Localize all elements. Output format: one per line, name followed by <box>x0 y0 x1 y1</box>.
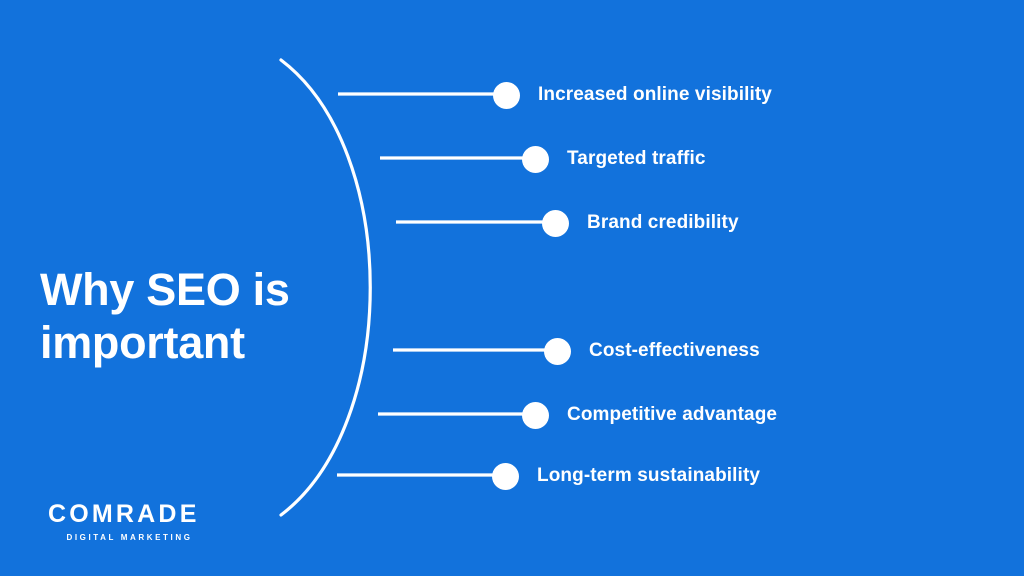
bullet-dot-icon <box>492 463 519 490</box>
list-item-label: Increased online visibility <box>538 84 772 106</box>
list-item: Targeted traffic <box>522 144 706 174</box>
list-item-label: Long-term sustainability <box>537 465 760 487</box>
list-item: Cost-effectiveness <box>544 336 760 366</box>
list-item-label: Competitive advantage <box>567 404 777 426</box>
list-item: Long-term sustainability <box>492 461 760 491</box>
brand-logo: COMRADE DIGITAL MARKETING <box>48 502 208 542</box>
curved-bracket-arc <box>281 60 370 515</box>
bullet-dot-icon <box>522 402 549 429</box>
list-item: Competitive advantage <box>522 400 777 430</box>
bullet-dot-icon <box>493 82 520 109</box>
bullet-dot-icon <box>544 338 571 365</box>
list-item-label: Brand credibility <box>587 212 739 234</box>
bullet-dot-icon <box>542 210 569 237</box>
bullet-dot-icon <box>522 146 549 173</box>
list-item-label: Cost-effectiveness <box>589 340 760 362</box>
logo-wordmark: COMRADE <box>48 502 208 527</box>
list-item: Brand credibility <box>542 208 739 238</box>
list-item-label: Targeted traffic <box>567 148 706 170</box>
logo-tagline: DIGITAL MARKETING <box>48 533 208 542</box>
list-item: Increased online visibility <box>493 80 772 110</box>
slide-canvas: Why SEO is important Increased online vi… <box>0 0 1024 576</box>
